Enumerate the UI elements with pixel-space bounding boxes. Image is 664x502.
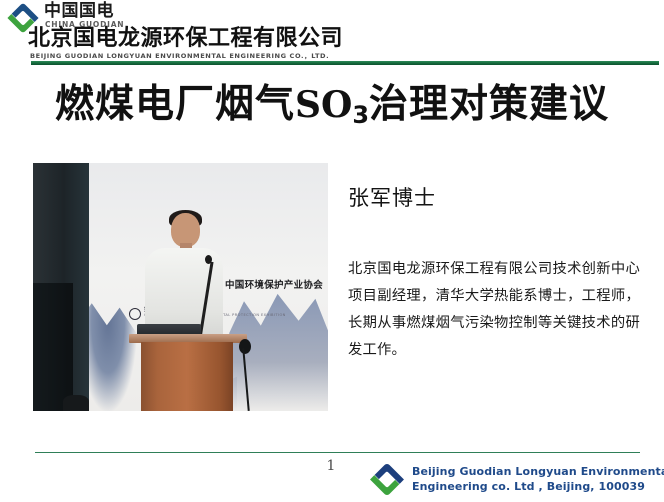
photo-speaker-head bbox=[171, 213, 200, 247]
footer-divider bbox=[35, 452, 640, 453]
footer-company-address: Beijing Guodian Longyuan Environmental E… bbox=[412, 464, 664, 494]
slide-header: 中国国电 CHINA GUODIAN 北京国电龙源环保工程有限公司 BEIJIN… bbox=[0, 0, 664, 68]
company-name-cn: 北京国电龙源环保工程有限公司 bbox=[28, 27, 343, 51]
brand-name-cn: 中国国电 bbox=[44, 2, 114, 20]
photo-podium-body bbox=[141, 342, 233, 411]
company-name-en: BEIJING GUODIAN LONGYUAN ENVIRONMENTAL E… bbox=[30, 50, 329, 60]
footer-line-2: Engineering co. Ltd , Beijing, 100039 bbox=[412, 479, 664, 494]
speaker-photo-content: 中国环境保护产业协会 第十五届中国国际环保展览会 CHINA INTERNATI… bbox=[33, 163, 328, 411]
footer-line-1: Beijing Guodian Longyuan Environmental bbox=[412, 464, 664, 479]
photo-banner-mark-icon bbox=[129, 308, 141, 320]
footer-guodian-interlock-logo-icon bbox=[368, 463, 406, 496]
photo-dark-foreground bbox=[33, 283, 73, 411]
speaker-bio: 北京国电龙源环保工程有限公司技术创新中心项目副经理，清华大学热能系博士，工程师，… bbox=[348, 256, 640, 364]
title-part1: 燃煤电厂烟气 bbox=[55, 82, 295, 127]
title-formula-subscript: 3 bbox=[352, 101, 369, 129]
speaker-photo: 中国环境保护产业协会 第十五届中国国际环保展览会 CHINA INTERNATI… bbox=[33, 163, 328, 411]
photo-backdrop-caption: 中国环境保护产业协会 bbox=[225, 277, 323, 291]
photo-floor-microphone-head bbox=[239, 339, 251, 354]
header-divider bbox=[31, 61, 659, 65]
page-number: 1 bbox=[322, 458, 340, 474]
speaker-name: 张军博士 bbox=[348, 182, 436, 212]
photo-microphone-head bbox=[205, 255, 212, 264]
page-title: 燃煤电厂烟气SO3治理对策建议 bbox=[0, 82, 664, 132]
title-formula-so: SO bbox=[295, 84, 352, 126]
title-part2: 治理对策建议 bbox=[369, 82, 609, 127]
photo-foreground-object bbox=[63, 395, 89, 411]
